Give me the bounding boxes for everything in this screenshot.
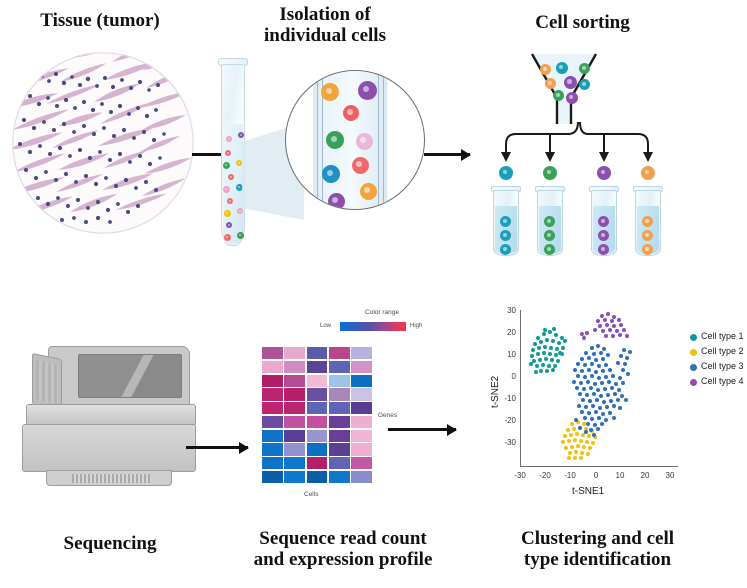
legend-label-cell-type-2: Cell type 2 — [701, 346, 744, 356]
tsne-x-axis-label: t-SNE1 — [572, 486, 604, 497]
heatmap-y-axis-label: Genes — [378, 412, 397, 419]
caption-read-count-line1: Sequence read count — [228, 528, 458, 549]
title-isolation-line1: Isolation of — [230, 4, 420, 25]
legend-label-cell-type-3: Cell type 3 — [701, 361, 744, 371]
sorting-distributor-lines — [492, 122, 672, 164]
heatmap-legend-high: High — [410, 323, 422, 329]
title-cell-sorting-text: Cell sorting — [535, 12, 629, 33]
legend-dot-cell-type-1 — [690, 334, 697, 341]
tsne-scatter-plot: 30 20 10 0 -10 -20 -30 -30 -20 -10 0 10 … — [488, 306, 747, 504]
legend-dot-cell-type-4 — [690, 379, 697, 386]
tissue-histology-image — [12, 52, 194, 234]
title-isolation-line2: individual cells — [230, 25, 420, 46]
tsne-x-axis — [520, 466, 678, 467]
caption-sequencing: Sequencing — [10, 533, 210, 554]
caption-read-count: Sequence read count and expression profi… — [228, 528, 458, 571]
legend-label-cell-type-4: Cell type 4 — [701, 376, 744, 386]
tsne-y-axis-label: t-SNE2 — [490, 376, 501, 408]
magnified-cells-view — [285, 70, 425, 210]
arrow-isolation-to-sorting — [424, 153, 470, 156]
heatmap-x-axis-label: Cells — [304, 491, 318, 498]
cell-sorting-group — [478, 50, 698, 255]
heatmap-legend-gradient — [340, 322, 406, 331]
sequencer-machine-icon — [20, 346, 195, 491]
heatmap-legend-title: Color range — [342, 309, 422, 316]
caption-read-count-line2: and expression profile — [228, 549, 458, 570]
tsne-y-axis — [520, 310, 521, 466]
heatmap-grid — [262, 347, 372, 483]
legend-label-cell-type-1: Cell type 1 — [701, 331, 744, 341]
title-cell-sorting: Cell sorting — [480, 12, 685, 33]
caption-clustering-line1: Clustering and cell — [490, 528, 705, 549]
caption-sequencing-text: Sequencing — [64, 533, 157, 554]
arrow-sequencing-to-heatmap — [186, 446, 248, 449]
caption-clustering-line2: type identification — [490, 549, 705, 570]
title-tissue: Tissue (tumor) — [0, 10, 200, 31]
arrow-heatmap-to-tsne — [388, 428, 456, 431]
expression-heatmap-group: Color range Low High Genes Cells — [258, 305, 458, 510]
legend-dot-cell-type-3 — [690, 364, 697, 371]
legend-dot-cell-type-2 — [690, 349, 697, 356]
heatmap-legend-low: Low — [320, 323, 331, 329]
title-tissue-text: Tissue (tumor) — [40, 10, 159, 31]
title-isolation: Isolation of individual cells — [230, 4, 420, 47]
caption-clustering: Clustering and cell type identification — [490, 528, 705, 571]
